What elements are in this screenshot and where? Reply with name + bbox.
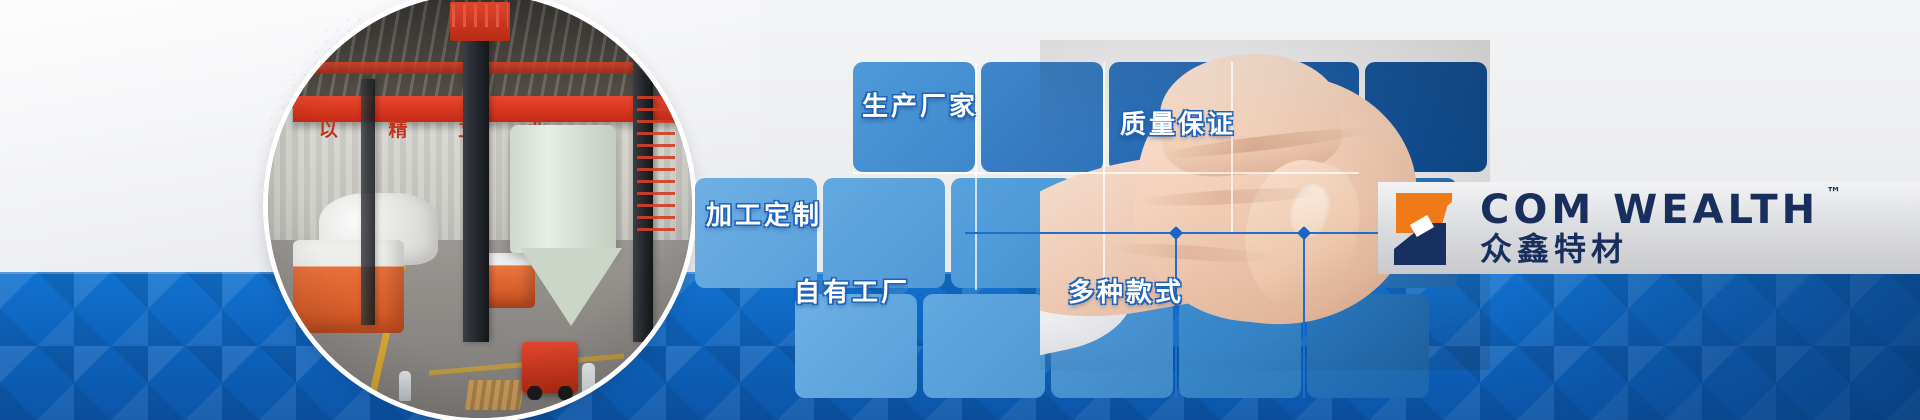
grid-line-v3 xyxy=(1231,62,1233,234)
grid-line-h1 xyxy=(853,172,1359,174)
feature-label-own-factory: 自有工厂 xyxy=(794,272,910,309)
feature-label-quality-assurance: 质量保证 xyxy=(1120,104,1236,141)
logo-english-label: COM WEALTH xyxy=(1480,187,1819,233)
logo-english-name: COM WEALTH™ xyxy=(1480,190,1819,230)
logo-chinese-name: 众鑫特材 xyxy=(1480,233,1819,267)
logo-mark-icon xyxy=(1388,189,1466,267)
trademark-icon: ™ xyxy=(1826,186,1845,201)
feature-label-multiple-styles: 多种款式 xyxy=(1068,272,1184,309)
grid-line-v5 xyxy=(1303,232,1305,398)
grid-line-v2 xyxy=(1103,62,1105,290)
photo-content: 以 精 立 业 xyxy=(268,0,692,418)
band-right-shadow xyxy=(1490,272,1920,420)
photo-vignette xyxy=(268,0,692,418)
grid-node-1 xyxy=(1169,226,1183,240)
feature-label-manufacturer: 生产厂家 xyxy=(862,86,978,123)
feature-label-processing-custom: 加工定制 xyxy=(706,195,822,232)
company-logo: COM WEALTH™ 众鑫特材 xyxy=(1378,182,1920,274)
factory-interior-photo: 以 精 立 业 xyxy=(268,0,692,418)
logo-text-block: COM WEALTH™ 众鑫特材 xyxy=(1480,190,1819,267)
grid-line-v4 xyxy=(1175,232,1177,398)
grid-node-2 xyxy=(1297,226,1311,240)
company-banner: 以 精 立 业 xyxy=(0,0,1920,420)
grid-overlay xyxy=(845,0,1545,360)
